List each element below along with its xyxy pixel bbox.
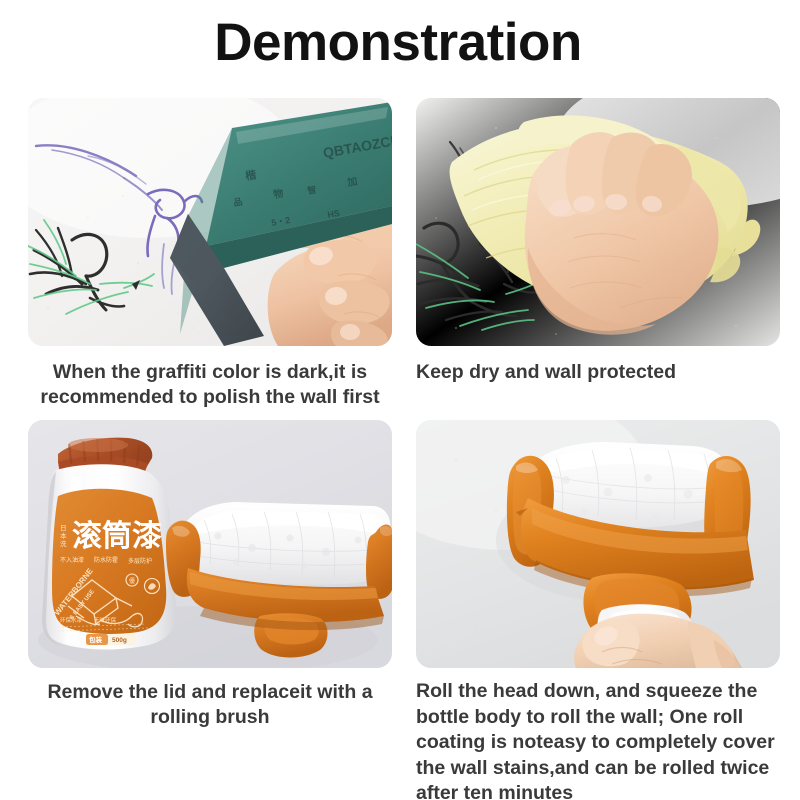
- svg-text:洗: 洗: [60, 539, 67, 548]
- svg-text:无味环保: 无味环保: [94, 616, 117, 624]
- svg-text:本: 本: [60, 531, 67, 540]
- svg-text:不入油漆: 不入油漆: [60, 556, 84, 564]
- bottle-weight-badge: 包装 500g: [86, 634, 136, 645]
- steps-grid: QBTAOZCH 楷 物 品 智 加 5・2 HS When: [28, 98, 780, 800]
- page-title: Demonstration: [0, 14, 796, 72]
- step-3: 滚筒漆 日 本 洗 不入油漆 防水防霍 多层防护: [28, 410, 392, 800]
- step-3-caption: Remove the lid and replaceit with a roll…: [28, 668, 392, 730]
- sanding-block-on-graffiti-wall-illustration: QBTAOZCH 楷 物 品 智 加 5・2 HS: [28, 98, 392, 346]
- svg-text:HS: HS: [327, 208, 341, 220]
- step-2: Keep dry and wall protected: [416, 98, 780, 410]
- step-2-photo: [416, 98, 780, 346]
- paint-bottle-and-roller-head-illustration: 滚筒漆 日 本 洗 不入油漆 防水防霍 多层防护: [28, 420, 392, 668]
- bottle-weight-text: 500g: [112, 637, 127, 644]
- step-3-photo: 滚筒漆 日 本 洗 不入油漆 防水防霍 多层防护: [28, 420, 392, 668]
- svg-text:多层防护: 多层防护: [128, 557, 152, 565]
- step-1-photo: QBTAOZCH 楷 物 品 智 加 5・2 HS: [28, 98, 392, 346]
- demonstration-infographic: Demonstration: [0, 0, 800, 800]
- step-4: Roll the head down, and squeeze the bott…: [416, 410, 780, 800]
- step-4-photo: [416, 420, 780, 668]
- rolling-bottle-on-wall-illustration: [416, 420, 780, 668]
- step-4-caption: Roll the head down, and squeeze the bott…: [416, 668, 780, 800]
- yellow-cloth-wiping-wall-illustration: [416, 98, 780, 346]
- bottle-label-side: 日: [60, 524, 67, 532]
- svg-text:品: 品: [233, 197, 244, 208]
- bottle-badge-text: 包装: [89, 635, 103, 644]
- step-2-caption: Keep dry and wall protected: [416, 346, 780, 385]
- svg-text:優: 優: [129, 577, 135, 585]
- svg-text:环保水漆: 环保水漆: [60, 616, 83, 624]
- svg-text:智: 智: [306, 184, 317, 196]
- svg-text:防水防霍: 防水防霍: [94, 556, 118, 564]
- step-1: QBTAOZCH 楷 物 品 智 加 5・2 HS When: [28, 98, 392, 410]
- bottle-label-main: 滚筒漆: [72, 519, 162, 553]
- step-1-caption: When the graffiti color is dark,it is re…: [28, 346, 392, 410]
